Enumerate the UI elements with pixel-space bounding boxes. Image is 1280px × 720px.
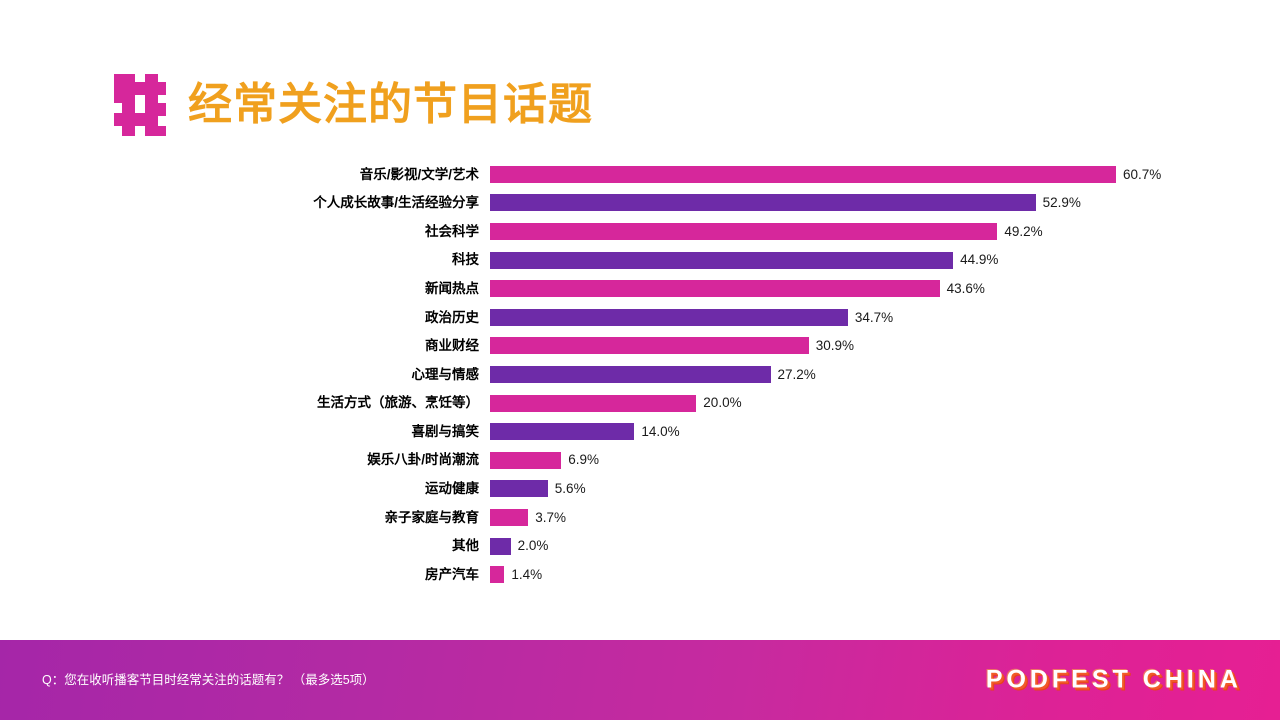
chart-row: 喜剧与搞笑14.0%	[0, 417, 1280, 446]
bar-category-label: 其他	[0, 539, 490, 553]
bar-value-label: 3.7%	[535, 511, 566, 525]
bar-category-label: 新闻热点	[0, 282, 490, 296]
bar-track: 44.9%	[490, 246, 1280, 275]
bar-category-label: 运动健康	[0, 482, 490, 496]
bar	[490, 566, 504, 583]
bar-category-label: 亲子家庭与教育	[0, 511, 490, 525]
bar	[490, 423, 634, 440]
chart-row: 音乐/影视/文学/艺术60.7%	[0, 160, 1280, 189]
bar-value-label: 49.2%	[1004, 225, 1042, 239]
bar-value-label: 60.7%	[1123, 168, 1161, 182]
bar-track: 43.6%	[490, 274, 1280, 303]
bar-value-label: 5.6%	[555, 482, 586, 496]
page-title: 经常关注的节目话题	[188, 83, 593, 127]
bar	[490, 252, 953, 269]
bar-category-label: 房产汽车	[0, 568, 490, 582]
bar-value-label: 14.0%	[641, 425, 679, 439]
bar-track: 14.0%	[490, 417, 1280, 446]
bar-value-label: 2.0%	[518, 539, 549, 553]
bar-track: 20.0%	[490, 389, 1280, 418]
bar-category-label: 娱乐八卦/时尚潮流	[0, 453, 490, 467]
bar-track: 52.9%	[490, 189, 1280, 218]
brand-logo: PODFEST CHINA	[986, 668, 1242, 693]
bar	[490, 280, 940, 297]
slide-footer: Q：您在收听播客节目时经常关注的话题有？ （最多选5项） PODFEST CHI…	[0, 640, 1280, 720]
bar-value-label: 27.2%	[778, 368, 816, 382]
chart-row: 其他2.0%	[0, 532, 1280, 561]
chart-row: 政治历史34.7%	[0, 303, 1280, 332]
bar-value-label: 44.9%	[960, 253, 998, 267]
slide: 经常关注的节目话题 音乐/影视/文学/艺术60.7%个人成长故事/生活经验分享5…	[0, 0, 1280, 720]
footer-question: Q：您在收听播客节目时经常关注的话题有？ （最多选5项）	[42, 674, 375, 687]
bar-value-label: 34.7%	[855, 311, 893, 325]
bar	[490, 395, 696, 412]
bar-track: 49.2%	[490, 217, 1280, 246]
bar-category-label: 政治历史	[0, 311, 490, 325]
bar-category-label: 商业财经	[0, 339, 490, 353]
bar-category-label: 社会科学	[0, 225, 490, 239]
bar	[490, 452, 561, 469]
bar	[490, 194, 1036, 211]
chart-row: 心理与情感27.2%	[0, 360, 1280, 389]
bar	[490, 366, 771, 383]
bar-category-label: 生活方式（旅游、烹饪等）	[0, 396, 490, 410]
bar-value-label: 1.4%	[511, 568, 542, 582]
bar-category-label: 科技	[0, 253, 490, 267]
hash-icon	[108, 74, 166, 136]
bar-track: 34.7%	[490, 303, 1280, 332]
bar-track: 60.7%	[490, 160, 1280, 189]
bar-track: 3.7%	[490, 503, 1280, 532]
chart-row: 新闻热点43.6%	[0, 274, 1280, 303]
chart-row: 娱乐八卦/时尚潮流6.9%	[0, 446, 1280, 475]
bar	[490, 223, 997, 240]
bar-value-label: 30.9%	[816, 339, 854, 353]
chart-row: 社会科学49.2%	[0, 217, 1280, 246]
bar-track: 27.2%	[490, 360, 1280, 389]
bar-track: 6.9%	[490, 446, 1280, 475]
bar	[490, 337, 809, 354]
bar	[490, 509, 528, 526]
bar	[490, 309, 848, 326]
chart-row: 科技44.9%	[0, 246, 1280, 275]
chart-row: 生活方式（旅游、烹饪等）20.0%	[0, 389, 1280, 418]
bar-track: 1.4%	[490, 560, 1280, 589]
chart-row: 亲子家庭与教育3.7%	[0, 503, 1280, 532]
bar-category-label: 音乐/影视/文学/艺术	[0, 168, 490, 182]
bar	[490, 538, 511, 555]
bar	[490, 480, 548, 497]
bar-track: 2.0%	[490, 532, 1280, 561]
bar-value-label: 20.0%	[703, 396, 741, 410]
bar-category-label: 心理与情感	[0, 368, 490, 382]
bar	[490, 166, 1116, 183]
bar-category-label: 个人成长故事/生活经验分享	[0, 196, 490, 210]
chart-row: 个人成长故事/生活经验分享52.9%	[0, 189, 1280, 218]
slide-header: 经常关注的节目话题	[108, 74, 593, 136]
bar-value-label: 43.6%	[947, 282, 985, 296]
bar-track: 30.9%	[490, 332, 1280, 361]
bar-track: 5.6%	[490, 475, 1280, 504]
chart-row: 房产汽车1.4%	[0, 560, 1280, 589]
chart-row: 商业财经30.9%	[0, 332, 1280, 361]
bar-value-label: 6.9%	[568, 453, 599, 467]
bar-category-label: 喜剧与搞笑	[0, 425, 490, 439]
bar-value-label: 52.9%	[1043, 196, 1081, 210]
bar-chart: 音乐/影视/文学/艺术60.7%个人成长故事/生活经验分享52.9%社会科学49…	[0, 160, 1280, 589]
chart-row: 运动健康5.6%	[0, 475, 1280, 504]
